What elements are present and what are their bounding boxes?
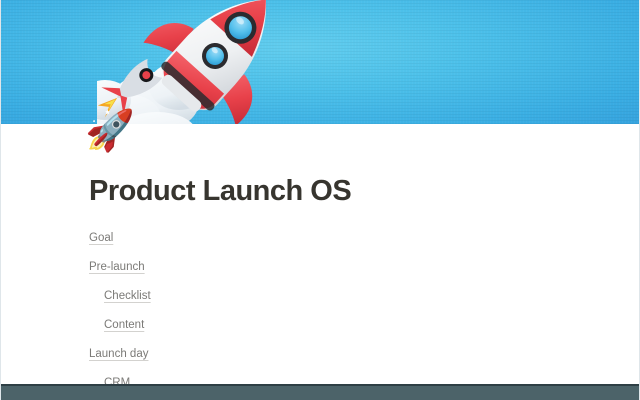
page-link-launch-day[interactable]: Launch day	[89, 348, 148, 360]
page-link-checklist-pre[interactable]: Checklist	[104, 290, 151, 302]
list-item[interactable]: Pre-launch	[1, 257, 640, 277]
rocket-illustration	[97, 0, 327, 124]
rocket-emoji-icon[interactable]: 🚀	[85, 107, 133, 155]
page-link-list: Goal Pre-launch Checklist Content Launch…	[1, 228, 640, 400]
list-item[interactable]: Goal	[1, 228, 640, 248]
page-content: Product Launch OS Goal Pre-launch Checkl…	[1, 124, 640, 400]
notion-page: 🚀 Product Launch OS Goal Pre-launch Chec…	[0, 0, 640, 400]
page-link-goal[interactable]: Goal	[89, 232, 113, 244]
page-link-pre-launch[interactable]: Pre-launch	[89, 261, 145, 273]
cover-image[interactable]	[1, 0, 640, 124]
list-item[interactable]: Checklist	[1, 286, 640, 306]
list-item[interactable]: Launch day	[1, 344, 640, 364]
list-item[interactable]: Content	[1, 315, 640, 335]
page-title[interactable]: Product Launch OS	[89, 174, 640, 209]
page-link-content[interactable]: Content	[104, 319, 144, 331]
bottom-status-bar[interactable]	[1, 384, 640, 400]
